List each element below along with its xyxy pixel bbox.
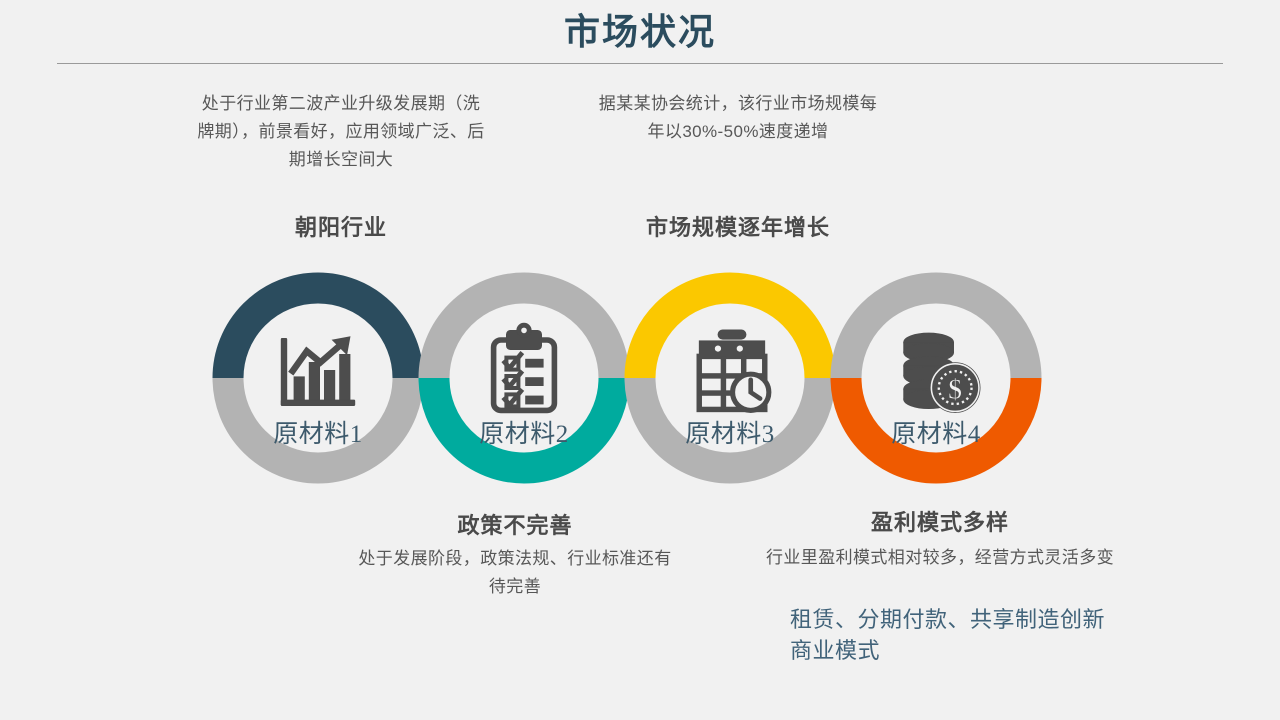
title-divider — [57, 63, 1223, 64]
ring-3-top-arc — [640, 288, 820, 378]
calendar-clock-icon — [699, 330, 771, 413]
ring-label-1: 原材料1 — [238, 414, 398, 450]
bar-chart-growth-icon — [281, 337, 355, 406]
callout-1-heading: 朝阳行业 — [196, 210, 486, 242]
coin-stack-dollar-icon — [904, 333, 980, 413]
ring-label-3: 原材料3 — [650, 414, 810, 450]
ring-4-top-arc — [846, 288, 1026, 378]
page-title: 市场状况 — [0, 8, 1280, 56]
clipboard-checklist-icon — [494, 323, 555, 410]
callout-4-heading: 盈利模式多样 — [800, 505, 1080, 537]
callout-3-body: 处于发展阶段，政策法规、行业标准还有待完善 — [355, 545, 675, 601]
callout-3-heading: 政策不完善 — [375, 508, 655, 540]
callout-4-body: 行业里盈利模式相对较多，经营方式灵活多变 — [765, 544, 1115, 572]
ring-label-2: 原材料2 — [444, 414, 604, 450]
callout-2-body: 据某某协会统计，该行业市场规模每年以30%-50%速度递增 — [593, 90, 883, 146]
ring-1-top-arc — [228, 288, 408, 378]
callout-2-heading: 市场规模逐年增长 — [593, 210, 883, 242]
ring-2-top-arc — [434, 288, 614, 378]
ring-label-4: 原材料4 — [856, 414, 1016, 450]
callout-1-body: 处于行业第二波产业升级发展期（洗牌期），前景看好，应用领域广泛、后期增长空间大 — [196, 90, 486, 174]
callout-4-note: 租赁、分期付款、共享制造创新商业模式 — [790, 604, 1120, 666]
